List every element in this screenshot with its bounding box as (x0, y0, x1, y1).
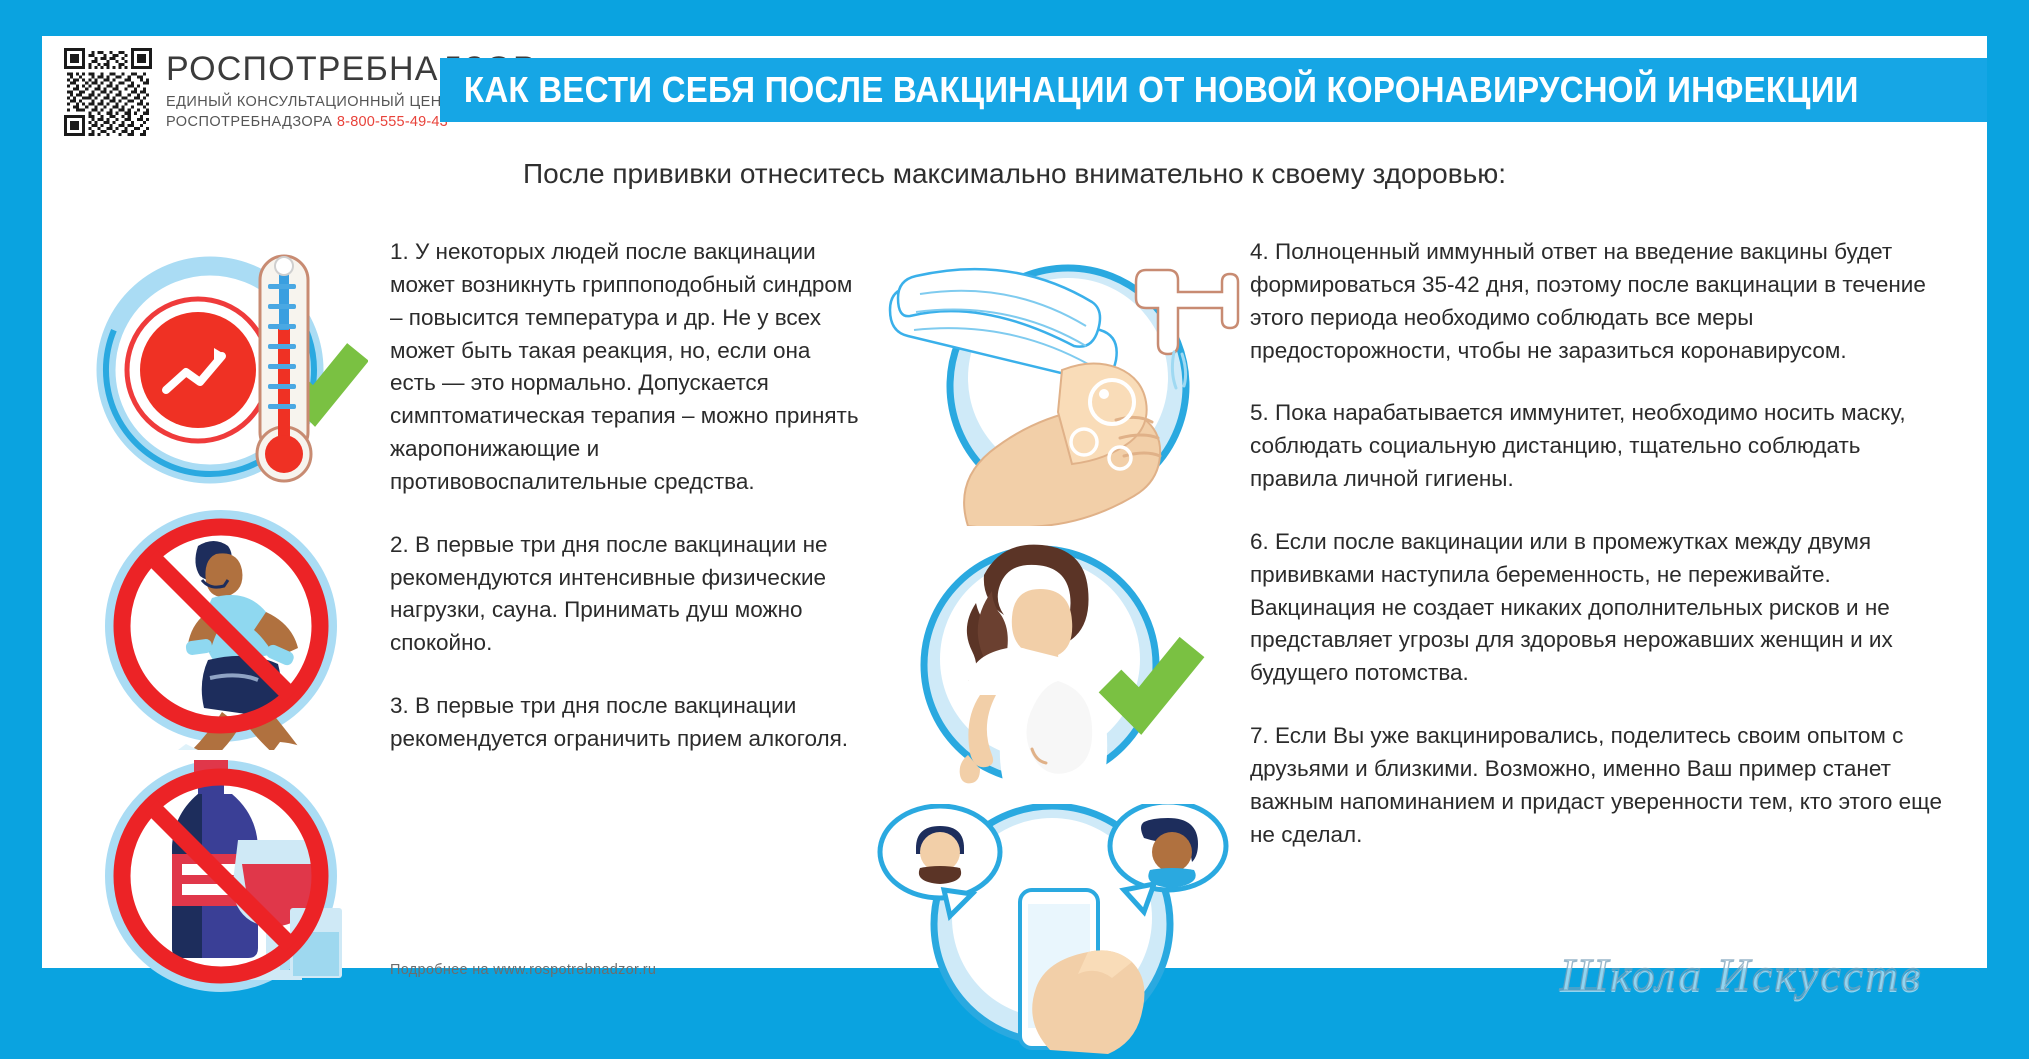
paragraph-7: 7. Если Вы уже вакцинировались, поделите… (1250, 720, 1950, 851)
thermometer-fever-icon (90, 248, 368, 496)
qr-code-icon (64, 48, 152, 136)
mask-and-handwashing-icon (872, 236, 1242, 531)
middle-illustration-column (872, 236, 1242, 1059)
share-experience-phone-icon (872, 804, 1242, 1059)
paragraph-6: 6. Если после вакцинации или в промежутк… (1250, 526, 1950, 690)
no-alcohol-icon (90, 756, 368, 1004)
poster-sheet: РОСПОТРЕБНАДЗОР ЕДИНЫЙ КОНСУЛЬТАЦИОННЫЙ … (42, 36, 1987, 968)
pregnant-woman-icon (872, 531, 1242, 804)
paragraph-5: 5. Пока нарабатывается иммунитет, необхо… (1250, 397, 1950, 496)
page-title: КАК ВЕСТИ СЕБЯ ПОСЛЕ ВАКЦИНАЦИИ ОТ НОВОЙ… (440, 69, 1859, 111)
website-note[interactable]: Подробнее на www.rospotrebnadzor.ru (390, 962, 656, 978)
poster-header: РОСПОТРЕБНАДЗОР ЕДИНЫЙ КОНСУЛЬТАЦИОННЫЙ … (42, 36, 1987, 141)
paragraph-2: 2. В первые три дня после вакцинации не … (390, 529, 860, 660)
paragraph-4: 4. Полноценный иммунный ответ на введени… (1250, 236, 1950, 367)
poster-background: РОСПОТРЕБНАДЗОР ЕДИНЫЙ КОНСУЛЬТАЦИОННЫЙ … (0, 0, 2029, 1024)
paragraph-1: 1. У некоторых людей после вакцинации мо… (390, 236, 860, 499)
subtitle: После прививки отнеситесь максимально вн… (42, 158, 1987, 190)
logo-subtitle-org: РОСПОТРЕБНАДЗОРА (166, 114, 332, 130)
no-exercise-icon (90, 502, 368, 750)
watermark: Школа Искусств (1560, 948, 1922, 1001)
hotline-phone-number[interactable]: 8-800-555-49-43 (337, 114, 448, 130)
title-banner: КАК ВЕСТИ СЕБЯ ПОСЛЕ ВАКЦИНАЦИИ ОТ НОВОЙ… (440, 58, 1987, 122)
paragraph-3: 3. В первые три дня после вакцинации рек… (390, 690, 860, 756)
left-text-column: 1. У некоторых людей после вакцинации мо… (390, 236, 860, 786)
right-text-column: 4. Полноценный иммунный ответ на введени… (1250, 236, 1950, 882)
left-icon-column (90, 248, 380, 1010)
